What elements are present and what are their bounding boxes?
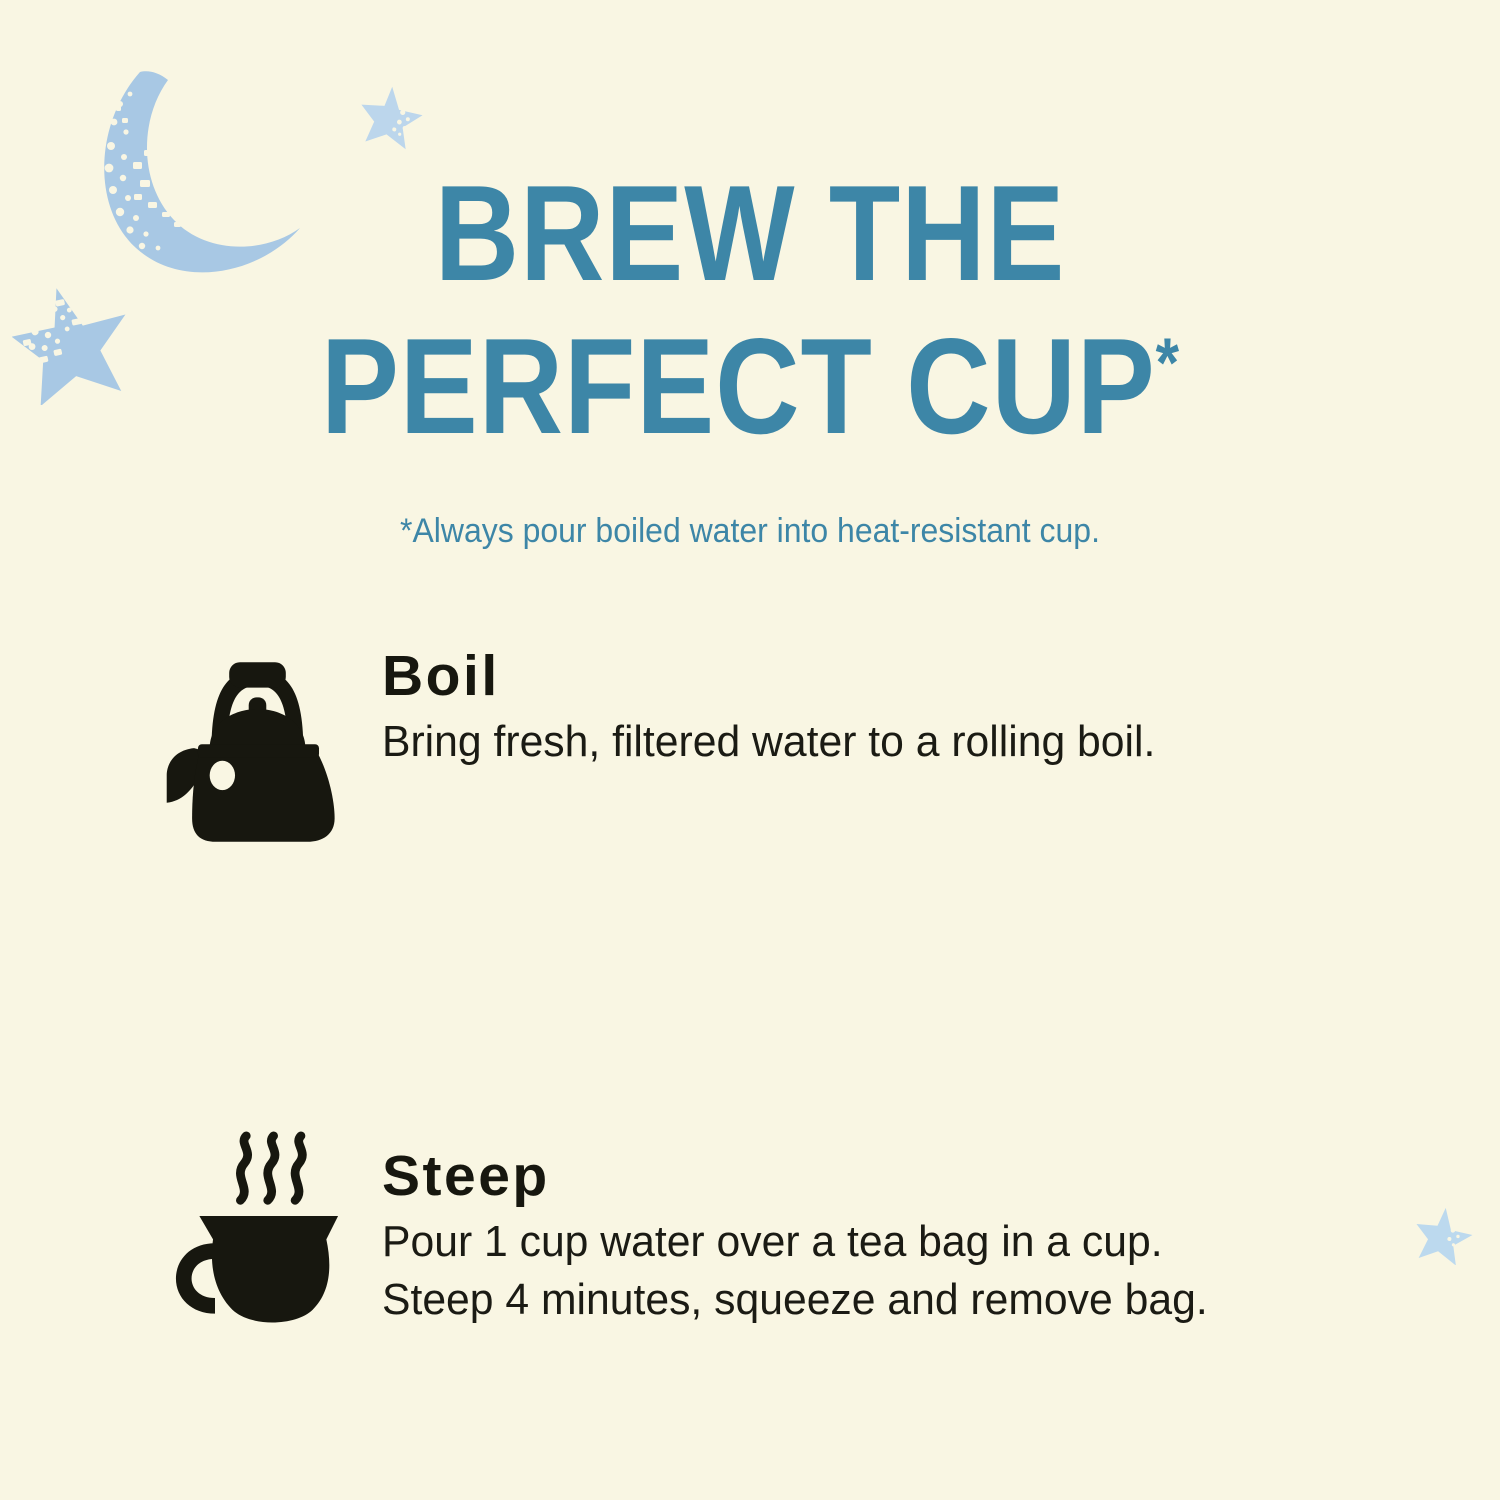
brewing-instructions-poster: BREW THE PERFECT CUP* *Always pour boile…: [0, 0, 1500, 1500]
step-boil-text: Boil Bring fresh, filtered water to a ro…: [382, 640, 1500, 771]
steaming-mug-icon: [132, 1130, 382, 1340]
headline-line-2-text: PERFECT CUP: [321, 310, 1156, 462]
step-steep: Steep Pour 1 cup water over a tea bag in…: [0, 1130, 1500, 1380]
step-steep-line-1: Pour 1 cup water over a tea bag in a cup…: [382, 1213, 1466, 1271]
step-steep-text: Steep Pour 1 cup water over a tea bag in…: [382, 1130, 1500, 1329]
step-boil: Boil Bring fresh, filtered water to a ro…: [0, 640, 1500, 890]
headline-line-1: BREW THE: [105, 168, 1395, 299]
kettle-icon: [132, 640, 382, 850]
page-title: BREW THE PERFECT CUP*: [0, 168, 1500, 451]
step-steep-title: Steep: [382, 1148, 1500, 1205]
headline-line-2: PERFECT CUP*: [105, 321, 1395, 452]
steps-list: Boil Bring fresh, filtered water to a ro…: [0, 640, 1500, 1390]
step-boil-line-1: Bring fresh, filtered water to a rolling…: [382, 713, 1466, 771]
step-steep-line-2: Steep 4 minutes, squeeze and remove bag.: [382, 1271, 1466, 1329]
headline-footnote: *Always pour boiled water into heat-resi…: [45, 512, 1455, 551]
star-icon-top: [358, 83, 426, 151]
step-boil-title: Boil: [382, 648, 1500, 705]
headline-asterisk: *: [1156, 323, 1179, 401]
